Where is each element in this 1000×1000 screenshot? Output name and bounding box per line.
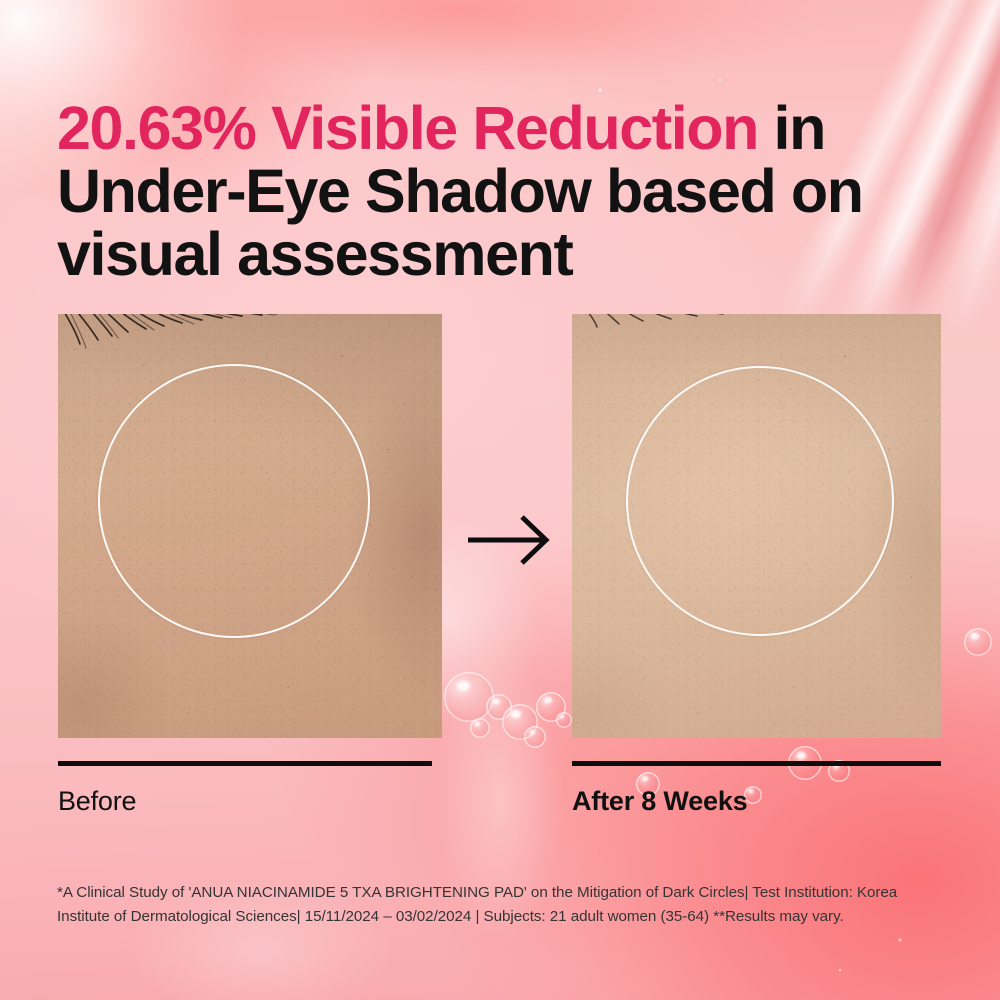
foam-bubble	[524, 726, 546, 748]
after-eyebrow-hairs	[579, 314, 749, 336]
after-divider-rule	[572, 761, 941, 766]
arrow-right-icon	[466, 512, 552, 573]
foam-bubble	[444, 672, 494, 722]
after-photo	[572, 314, 941, 738]
eyebrow-hair-svg	[58, 314, 277, 372]
headline-space-2	[758, 94, 774, 162]
foam-bubble	[556, 712, 572, 728]
headline-accent-phrase: Visible Reduction	[271, 94, 758, 162]
arrow-right-svg	[466, 512, 552, 568]
headline-line2: Under-Eye Shadow based on	[57, 157, 863, 225]
after-caption: After 8 Weeks	[572, 784, 747, 818]
headline-line3: visual assessment	[57, 220, 572, 288]
headline: 20.63% Visible Reduction inUnder-Eye Sha…	[57, 97, 957, 286]
after-marker-circle-icon	[626, 366, 894, 636]
footnote-disclaimer: *A Clinical Study of 'ANUA NIACINAMIDE 5…	[57, 881, 915, 929]
before-marker-circle-icon	[98, 364, 370, 638]
before-photo	[58, 314, 442, 738]
foam-bubble	[470, 718, 490, 738]
headline-stat: 20.63%	[57, 94, 256, 162]
headline-line1-tail: in	[774, 94, 825, 162]
product-claim-graphic: 20.63% Visible Reduction inUnder-Eye Sha…	[0, 0, 1000, 1000]
before-divider-rule	[58, 761, 432, 766]
eyebrow-hair-svg	[579, 314, 749, 336]
before-eyebrow-hairs	[58, 314, 277, 372]
before-caption: Before	[58, 784, 136, 818]
headline-space-1	[256, 94, 272, 162]
foam-bubble	[964, 628, 992, 656]
